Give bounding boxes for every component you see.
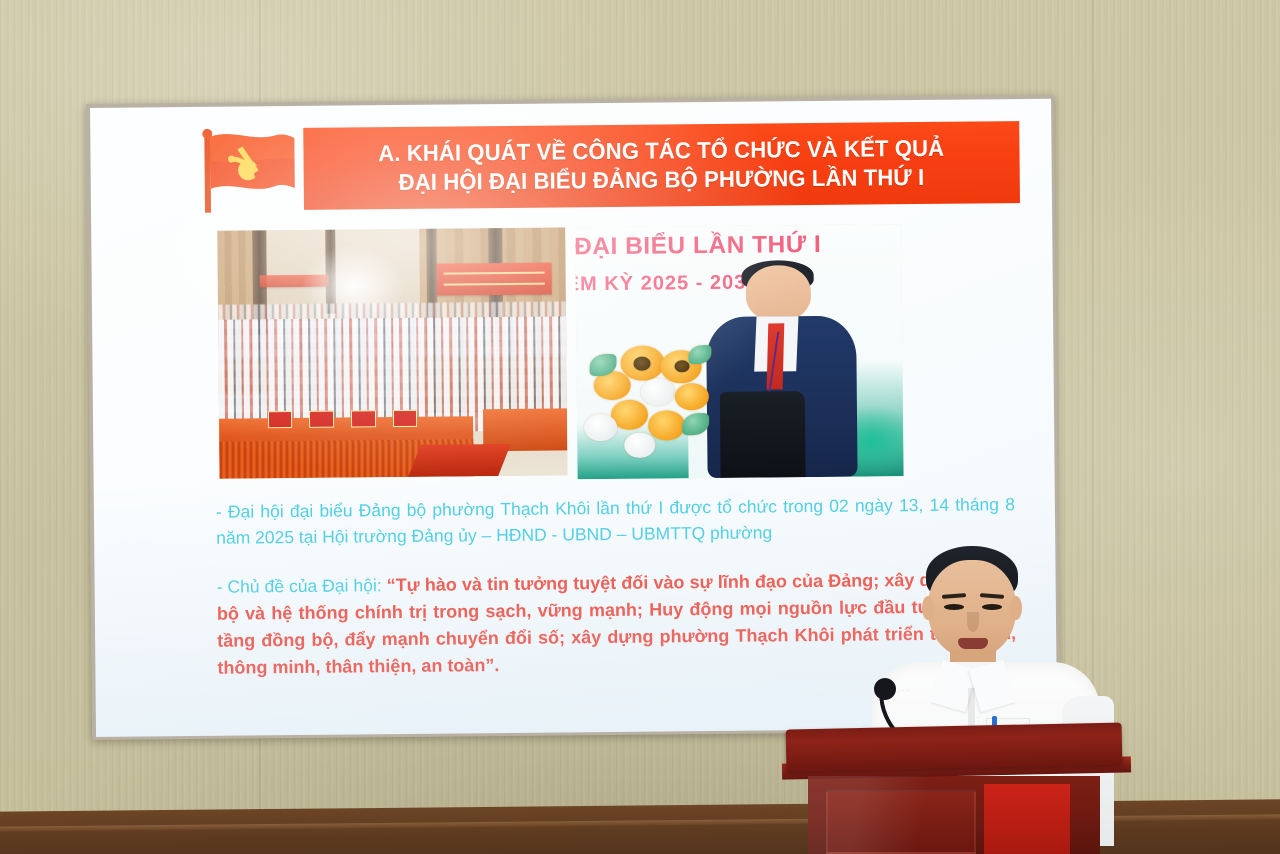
podium-front-panel [826, 790, 976, 854]
slide-title-band: A. KHÁI QUÁT VỀ CÔNG TÁC TỔ CHỨC VÀ KẾT … [303, 121, 1020, 210]
paragraph-2-lead: - Chủ đề của Đại hội: [217, 575, 387, 597]
wooden-podium [786, 726, 1122, 854]
presenter-ear-left [922, 596, 934, 620]
podium-red-panel [984, 784, 1070, 854]
slide-title-line-2: ĐẠI HỘI ĐẠI BIỂU ĐẢNG BỘ PHƯỜNG LẦN THỨ … [399, 164, 925, 196]
podium-top [786, 722, 1123, 771]
presenter-mouth [958, 638, 988, 649]
presenter-eye-right [982, 604, 1002, 610]
presenter-nose [967, 612, 979, 632]
microphone-head-icon [874, 678, 896, 700]
slide-photo-row: ĐẠI BIỂU LẦN THỨ I ỆM KỲ 2025 - 2030 [217, 224, 903, 479]
flower-bouquet [583, 337, 754, 475]
backdrop-term: ỆM KỲ 2025 - 2030 [575, 270, 892, 296]
presenter-eye-left [944, 604, 964, 610]
slide-title-area: A. KHÁI QUÁT VỀ CÔNG TÁC TỔ CHỨC VÀ KẾT … [90, 115, 1052, 216]
slide-title-line-1: A. KHÁI QUÁT VỀ CÔNG TÁC TỔ CHỨC VÀ KẾT … [378, 135, 944, 167]
conference-hall-photo [217, 227, 567, 478]
communist-party-flag-icon [198, 126, 303, 213]
speaker-podium-photo: ĐẠI BIỂU LẦN THỨ I ỆM KỲ 2025 - 2030 [575, 224, 903, 479]
backdrop-headline: ĐẠI BIỂU LẦN THỨ I [575, 230, 903, 261]
presenter-ear-right [1010, 596, 1022, 620]
